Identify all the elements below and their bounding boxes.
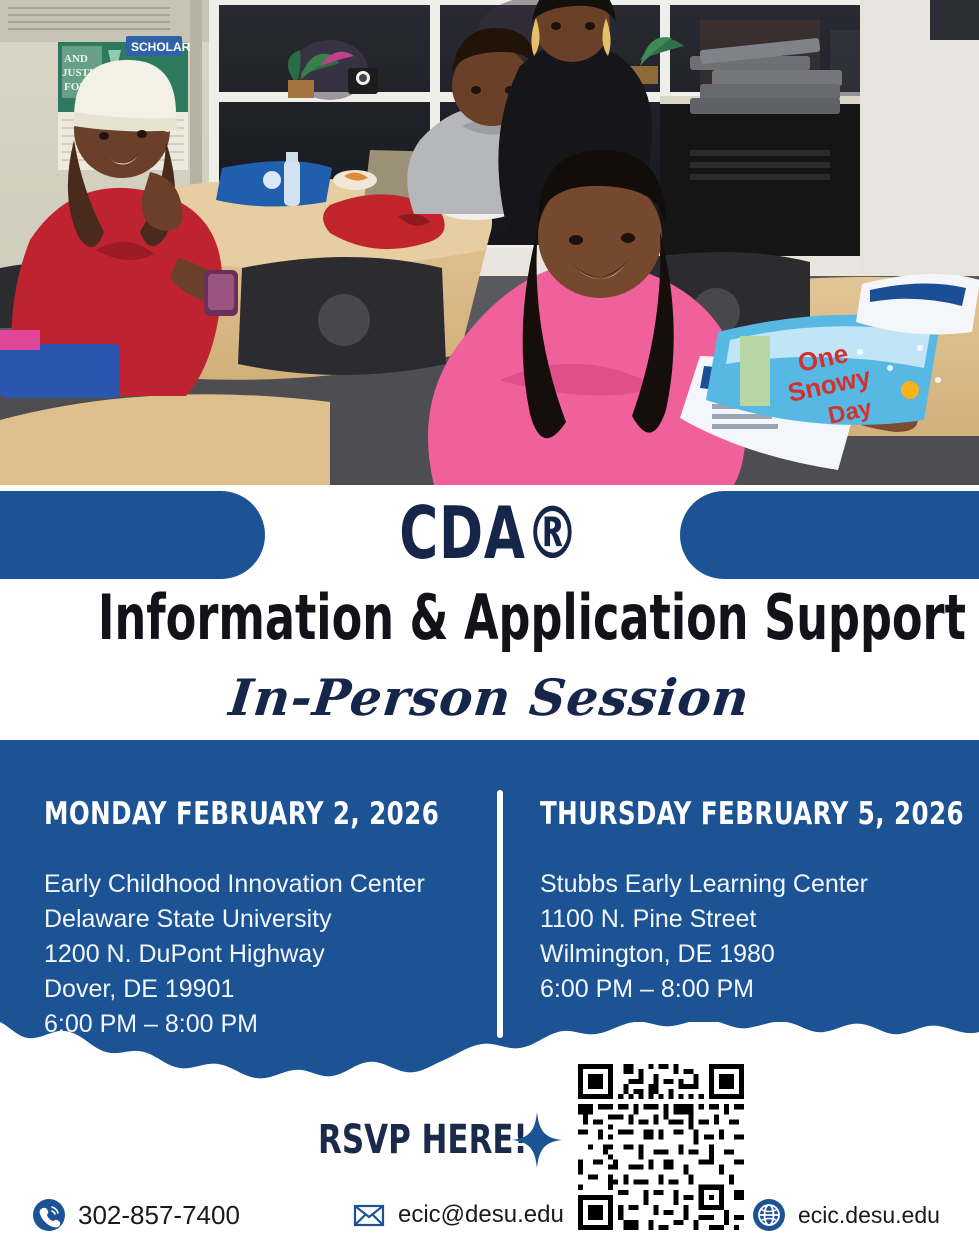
title-section: CDA® Information & Application Support I… [0,485,979,760]
globe-icon [752,1198,786,1232]
session-column-2: THURSDAY FEBRUARY 5, 2026 Stubbs Early L… [540,795,960,1007]
header-photo: AND JUSTICE FOR ALL SCHOLAR [0,0,979,485]
session-2-address: Stubbs Early Learning Center 1100 N. Pin… [540,867,960,1007]
session-column-1: MONDAY FEBRUARY 2, 2026 Early Childhood … [44,795,494,1042]
contact-phone[interactable]: 302-857-7400 [32,1198,240,1232]
website-url: ecic.desu.edu [798,1200,940,1230]
contact-email[interactable]: ecic@desu.edu [352,1198,564,1232]
flyer-root: AND JUSTICE FOR ALL SCHOLAR [0,0,979,1249]
session-1-line-5: 6:00 PM – 8:00 PM [44,1007,494,1042]
session-2-line-2: 1100 N. Pine Street [540,902,960,937]
sparkle-icon [512,1112,562,1168]
qr-code[interactable] [578,1064,744,1230]
contact-website[interactable]: ecic.desu.edu [752,1198,940,1232]
session-1-address: Early Childhood Innovation Center Delawa… [44,867,494,1042]
svg-text:SCHOLAR: SCHOLAR [131,40,191,54]
photo-illustration: AND JUSTICE FOR ALL SCHOLAR [0,0,979,485]
phone-icon [32,1198,66,1232]
page-subtitle: Information & Application Support [98,583,881,653]
session-2-line-3: Wilmington, DE 1980 [540,937,960,972]
session-1-line-1: Early Childhood Innovation Center [44,867,494,902]
session-2-line-4: 6:00 PM – 8:00 PM [540,972,960,1007]
session-1-line-4: Dover, DE 19901 [44,972,494,1007]
envelope-icon [352,1198,386,1232]
page-script-line: In-Person Session [0,667,979,729]
sessions-columns: MONDAY FEBRUARY 2, 2026 Early Childhood … [0,795,979,1075]
session-2-date: THURSDAY FEBRUARY 5, 2026 [540,795,910,833]
svg-text:AND: AND [64,53,88,65]
session-1-line-3: 1200 N. DuPont Highway [44,937,494,972]
rsvp-label: RSVP HERE! [318,1118,528,1162]
session-1-date: MONDAY FEBRUARY 2, 2026 [44,795,440,833]
page-title: CDA® [88,485,891,581]
phone-number: 302-857-7400 [78,1200,240,1230]
email-address: ecic@desu.edu [398,1200,564,1230]
session-1-line-2: Delaware State University [44,902,494,937]
session-2-line-1: Stubbs Early Learning Center [540,867,960,902]
torn-edge-top [0,740,979,800]
